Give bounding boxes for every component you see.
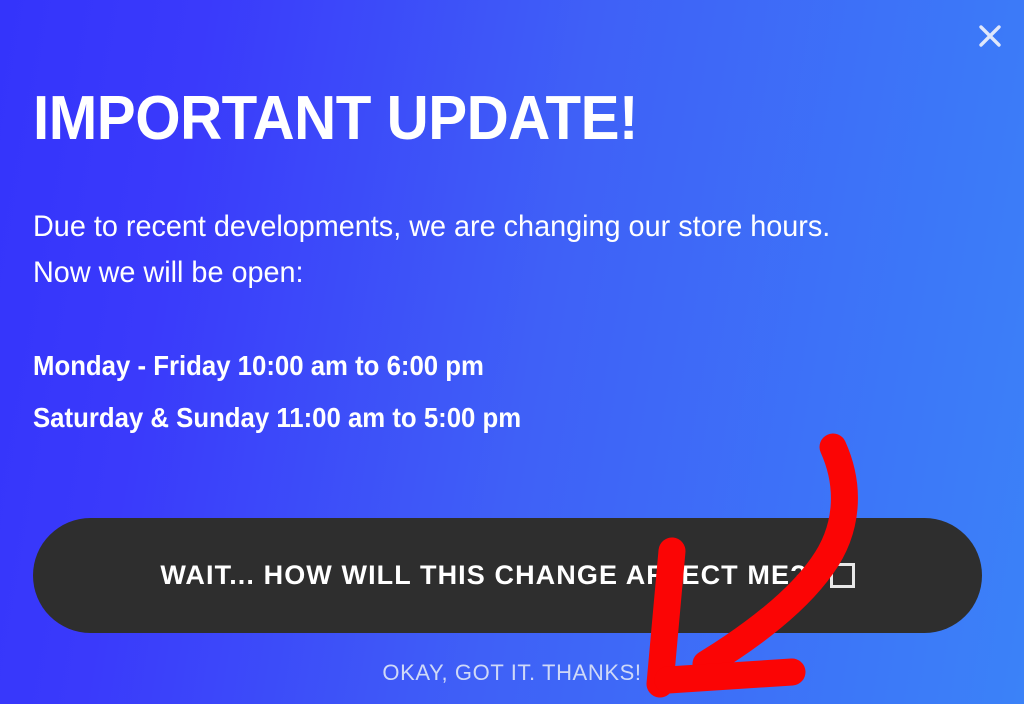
cta-button[interactable]: WAIT... HOW WILL THIS CHANGE AFFECT ME? bbox=[33, 518, 982, 633]
close-x-icon bbox=[977, 23, 1003, 49]
close-button[interactable] bbox=[966, 14, 1014, 58]
store-hours-list: Monday - Friday 10:00 am to 6:00 pm Satu… bbox=[33, 340, 953, 444]
tofu-square-icon bbox=[830, 563, 855, 588]
list-item: Monday - Friday 10:00 am to 6:00 pm bbox=[33, 340, 879, 392]
announcement-popup: IMPORTANT UPDATE! Due to recent developm… bbox=[0, 0, 1024, 704]
popup-body-text: Due to recent developments, we are chang… bbox=[33, 204, 863, 296]
dismiss-link[interactable]: OKAY, GOT IT. THANKS! bbox=[0, 660, 1024, 686]
popup-content: IMPORTANT UPDATE! Due to recent developm… bbox=[33, 0, 953, 444]
list-item: Saturday & Sunday 11:00 am to 5:00 pm bbox=[33, 392, 879, 444]
page-title: IMPORTANT UPDATE! bbox=[33, 88, 898, 150]
cta-button-label: WAIT... HOW WILL THIS CHANGE AFFECT ME? bbox=[160, 560, 807, 591]
